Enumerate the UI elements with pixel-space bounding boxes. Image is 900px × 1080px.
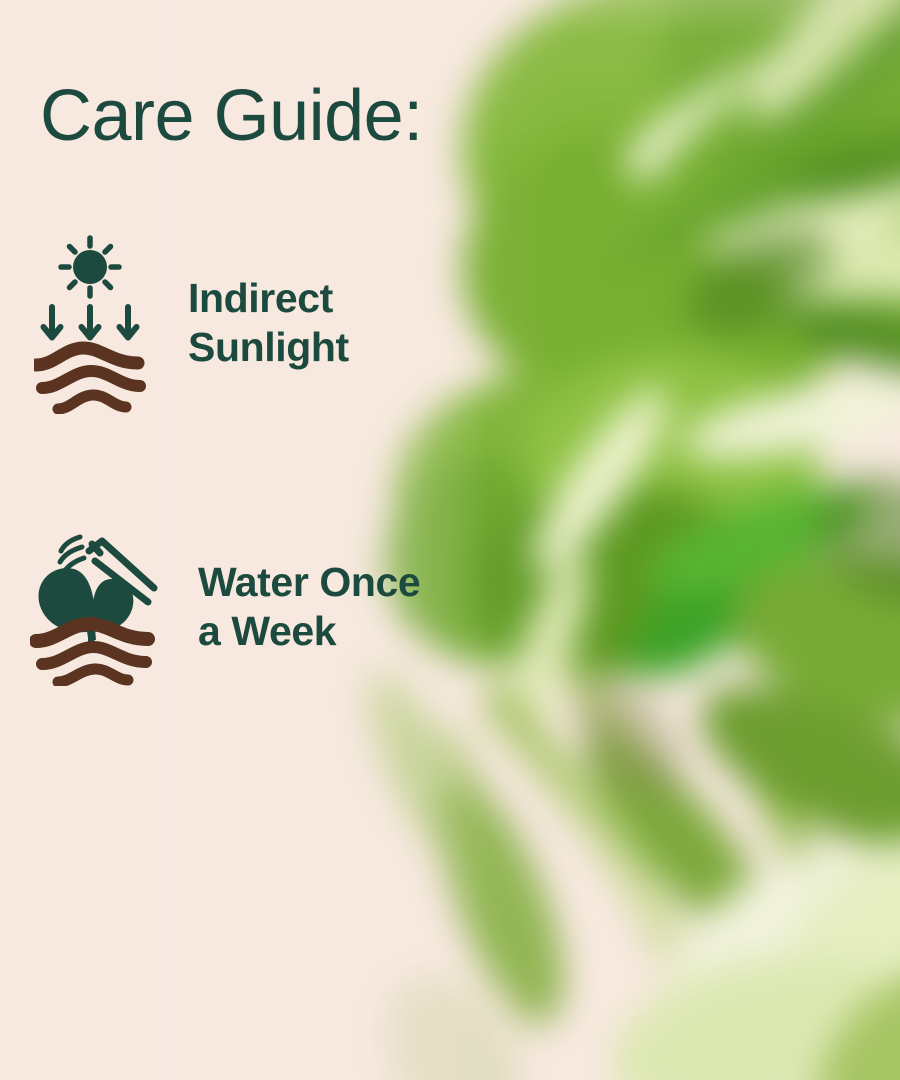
care-item-indirect-sunlight: Indirect Sunlight — [34, 232, 349, 414]
watering-sprayer-plant-icon — [30, 528, 162, 686]
sun-over-soil-icon — [34, 232, 146, 414]
soil-waves — [36, 348, 140, 409]
care-item-water-once-a-week: Water Once a Week — [30, 528, 420, 686]
care-guide-card: Care Guide: — [0, 0, 900, 1080]
page-title: Care Guide: — [40, 80, 423, 152]
care-label-water-once-a-week: Water Once a Week — [198, 558, 420, 656]
care-label-indirect-sunlight: Indirect Sunlight — [188, 274, 349, 372]
